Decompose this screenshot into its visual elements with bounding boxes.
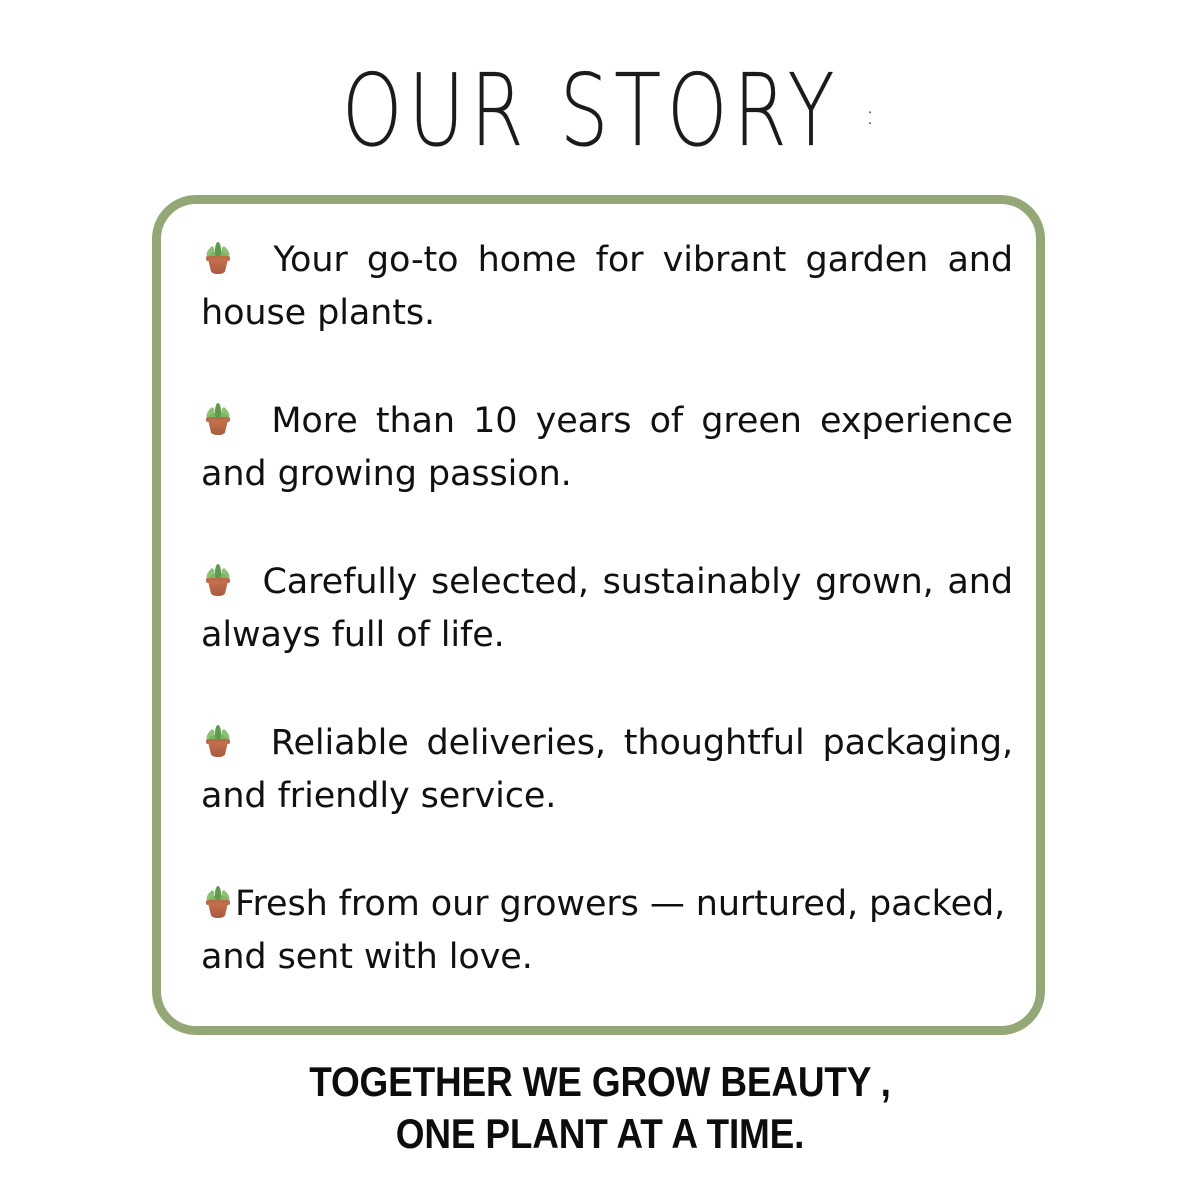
list-item-text: Reliable deliveries, thoughtful packagin…	[201, 723, 1013, 816]
list-item-text: More than 10 years of green experience a…	[201, 401, 1013, 494]
tagline-line-2: ONE PLANT AT A TIME.	[72, 1108, 1128, 1160]
tagline-line-1: TOGETHER WE GROW BEAUTY ,	[72, 1056, 1128, 1108]
story-card-content: Your go-to home for vibrant garden and h…	[201, 234, 1013, 1004]
potted-plant-icon	[201, 241, 235, 275]
list-item-text: Fresh from our growers — nurtured, packe…	[201, 884, 1005, 977]
story-card: Your go-to home for vibrant garden and h…	[152, 195, 1045, 1035]
potted-plant-icon	[201, 563, 235, 597]
list-item-text: Your go-to home for vibrant garden and h…	[201, 240, 1013, 333]
list-item-text: Carefully selected, sustainably grown, a…	[201, 562, 1013, 655]
list-item: Your go-to home for vibrant garden and h…	[201, 234, 1013, 340]
potted-plant-icon	[201, 724, 235, 758]
list-item: Reliable deliveries, thoughtful packagin…	[201, 717, 1013, 823]
page-title-container: OUR STORY:	[0, 62, 1200, 144]
list-item: Fresh from our growers — nurtured, packe…	[201, 878, 1013, 984]
poster-page: OUR STORY: Your go-to home for vibrant g…	[0, 0, 1200, 1200]
potted-plant-icon	[201, 402, 235, 436]
page-title: OUR STORY	[341, 62, 839, 162]
page-title-colon: :	[866, 101, 875, 131]
list-item: More than 10 years of green experience a…	[201, 395, 1013, 501]
potted-plant-icon	[201, 885, 235, 919]
tagline-block: TOGETHER WE GROW BEAUTY , ONE PLANT AT A…	[0, 1056, 1200, 1160]
list-item: Carefully selected, sustainably grown, a…	[201, 556, 1013, 662]
